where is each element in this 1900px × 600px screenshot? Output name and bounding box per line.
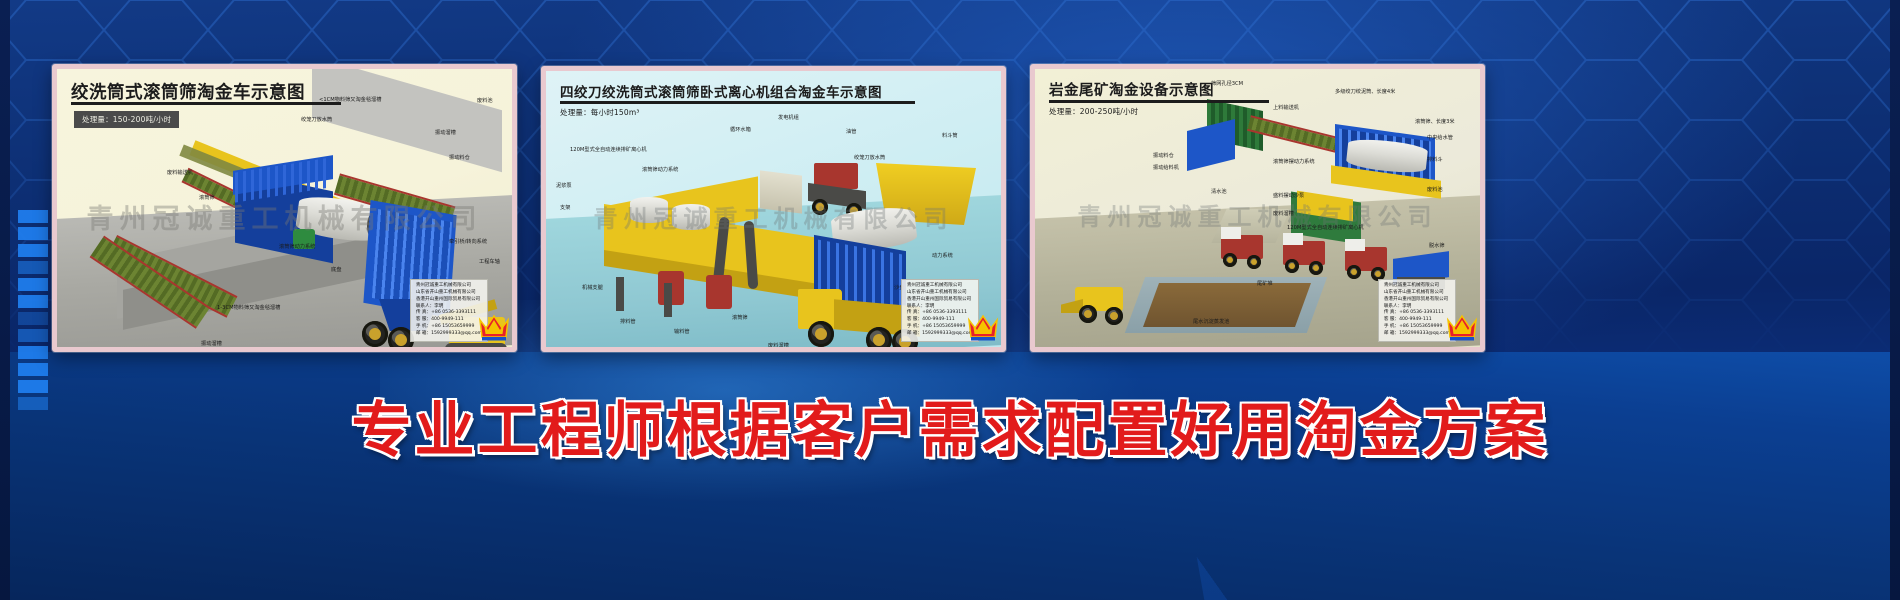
panel-3-label-4: 中央给水管 [1427, 135, 1453, 142]
panel-1-title: 绞洗筒式滚筒筛淘金车示意图 [71, 79, 305, 104]
panel-2-label-13: 滚筒筛 [732, 315, 748, 322]
panel-2-label-10: 机械支腿 [582, 285, 603, 292]
machine-support-leg-2 [664, 283, 672, 317]
panel-2-label-4: 绞笼刀放水筒 [854, 155, 885, 162]
panel-1-label-9: 牵引桥/转向系统 [449, 239, 487, 246]
truck-cab-3 [1345, 239, 1365, 251]
panel-2-label-0: 发电机组 [778, 115, 799, 122]
panel-3-label-14: 脱水筛 [1429, 243, 1445, 250]
panel-1-label-12: 振动溜槽 [201, 341, 222, 348]
panel-2-label-3: 料斗筒 [942, 133, 958, 140]
grey-ramp [312, 69, 502, 172]
panel-3-title-rule [1049, 100, 1269, 103]
panel-2-label-5: 120M型式全自动连续排矿离心机 [570, 147, 647, 154]
panel-1-label-3: 振动溜槽 [435, 130, 456, 137]
panel-3-label-16: 尾水沉淀蒸发池 [1193, 319, 1229, 326]
loader-wheel-2 [1105, 307, 1123, 325]
panel-1-label-10: 工程车轴 [479, 259, 500, 266]
panel-3-label-5: 振动料仓 [1153, 153, 1174, 160]
panel-3-label-8: 排料斗 [1427, 157, 1443, 164]
excavator-track [445, 343, 507, 347]
panel-2-label-11: 排料管 [620, 319, 636, 326]
contact-company-3: 香港开山重州国际贸易有限公司 [1384, 297, 1450, 304]
left-edge-bar [0, 0, 10, 600]
panel-3-label-0: 筛网孔径3CM [1211, 81, 1243, 88]
panel-2-label-8: 支架 [560, 205, 570, 212]
panel-3-label-6: 振动给料机 [1153, 165, 1179, 172]
diagram-panel-2[interactable]: 四绞刀绞洗筒式滚筒筛卧式离心机组合淘金车示意图 处理量：每小时150m³ 青州冠… [541, 66, 1006, 352]
panel-1-label-0: <1CM物料筛又淘金毯溜槽 [319, 97, 381, 104]
panel-2-label-7: 泥浆泵 [556, 183, 572, 190]
panel-3-label-7: 滚筒筛摆动力系统 [1273, 159, 1315, 166]
panel-3-label-12: 废料溜槽 [1273, 211, 1294, 218]
crown-logo-icon [967, 313, 999, 343]
panel-1-title-rule [71, 102, 341, 105]
decorative-square-strip [18, 210, 48, 410]
crown-logo-icon [478, 313, 510, 343]
truck-3-wheel-1 [1347, 265, 1361, 279]
panel-3-capacity-badge: 处理量：200-250吨/小时 [1049, 106, 1138, 117]
truck-1-wheel-1 [1223, 253, 1237, 267]
generator-wheel-1 [812, 199, 828, 215]
vibrating-feeder-bin [1187, 119, 1235, 171]
panel-1-label-5: 废料输送机 [167, 170, 193, 177]
contact-company-2: 山东省开山重工机械有限公司 [907, 290, 973, 297]
panel-2-label-1: 循环水箱 [730, 127, 751, 134]
loader-wheel-1 [1079, 305, 1097, 323]
right-edge-bar [1890, 0, 1900, 600]
panel-2-title: 四绞刀绞洗筒式滚筒筛卧式离心机组合淘金车示意图 [560, 81, 882, 101]
machine-support-leg-1 [616, 277, 624, 311]
panel-3-label-9: 清水池 [1211, 189, 1227, 196]
panel-2-title-rule [560, 101, 915, 104]
pump-barrel-2 [706, 275, 732, 309]
centrifuge-drum-1 [630, 197, 668, 223]
panel-2-capacity-badge: 处理量：每小时150m³ [560, 107, 640, 118]
panel-2-label-12: 输料管 [674, 329, 690, 336]
panel-1-contact-box: 青州冠诚重工机械有限公司 山东省开山重工机械有限公司 香港开山重州国际贸易有限公… [410, 279, 488, 342]
banner-headline: 专业工程师根据客户需求配置好用淘金方案 [0, 382, 1900, 469]
circulating-water-tank [760, 170, 802, 213]
truck-2-wheel-2 [1309, 261, 1323, 275]
truck-cab-2 [1283, 233, 1303, 245]
diagram-panel-1[interactable]: 绞洗筒式滚筒筛淘金车示意图 处理量：150-200吨/小时 青州冠诚重工机械有限… [52, 64, 517, 352]
panel-1-label-6: 滚筒筛 [199, 195, 215, 202]
trailer-wheel-1 [362, 321, 388, 347]
panel-3-label-15: 尾矿堆 [1257, 281, 1273, 288]
panel-2-label-2: 油管 [846, 129, 856, 136]
panel-3-label-2: 上料输送机 [1273, 105, 1299, 112]
contact-email: 邮 箱：1592999333@qq.com [1384, 331, 1450, 338]
panel-3-label-10: 盛料摆动沙泵 [1273, 193, 1304, 200]
panel-1-label-11: 1-3CM物料筛又淘金毯溜槽 [217, 305, 280, 312]
panel-3-title: 岩金尾矿淘金设备示意图 [1049, 79, 1214, 100]
panel-1-label-2: 废料池 [477, 98, 493, 105]
panel-1-label-1: 绞笼刀放水筒 [301, 117, 332, 124]
panel-3-label-3: 滚筒筛、长度3米 [1415, 119, 1455, 126]
truck-wheel-1 [808, 321, 834, 347]
panel-3-contact-box: 青州冠诚重工机械有限公司 山东省开山重工机械有限公司 香港开山重州国际贸易有限公… [1378, 279, 1456, 342]
panel-2-label-6: 滚筒筛动力系统 [642, 167, 678, 174]
contact-company-3: 香港开山重州国际贸易有限公司 [416, 297, 482, 304]
panel-2-label-15: 废料溜槽 [768, 343, 789, 350]
contact-company-2: 山东省开山重工机械有限公司 [416, 290, 482, 297]
panel-3-label-1: 多级绞刀绞泥筒、长度4米 [1335, 89, 1395, 96]
truck-wheel-2 [866, 327, 892, 347]
panel-3-label-11: 废料池 [1427, 187, 1443, 194]
panel-1-label-7: 滚筒筛动力系统 [279, 244, 315, 251]
contact-email: 邮 箱：1592999333@qq.com [416, 331, 482, 338]
diagram-panel-3[interactable]: 岩金尾矿淘金设备示意图 处理量：200-250吨/小时 青州冠诚重工机械有限公司… [1030, 64, 1485, 352]
contact-company: 青州冠诚重工机械有限公司 [907, 283, 973, 290]
panel-1-label-8: 底盘 [331, 267, 341, 274]
contact-company: 青州冠诚重工机械有限公司 [1384, 283, 1450, 290]
contact-company-3: 香港开山重州国际贸易有限公司 [907, 297, 973, 304]
contact-email: 邮 箱：1592999333@qq.com [907, 331, 973, 338]
truck-1-wheel-2 [1247, 255, 1261, 269]
panel-2-label-9: 动力系统 [932, 253, 953, 260]
truck-2-wheel-1 [1285, 259, 1299, 273]
contact-company-2: 山东省开山重工机械有限公司 [1384, 290, 1450, 297]
panel-3-label-13: 120M型式全自动连续排矿离心机 [1287, 225, 1364, 232]
truck-cab-1 [1221, 227, 1241, 239]
contact-company: 青州冠诚重工机械有限公司 [416, 283, 482, 290]
crown-logo-icon [1446, 313, 1478, 343]
panel-1-capacity-badge: 处理量：150-200吨/小时 [74, 111, 179, 128]
centrifuge-drum-2 [672, 204, 710, 230]
panel-1-label-4: 振动料仓 [449, 155, 470, 162]
